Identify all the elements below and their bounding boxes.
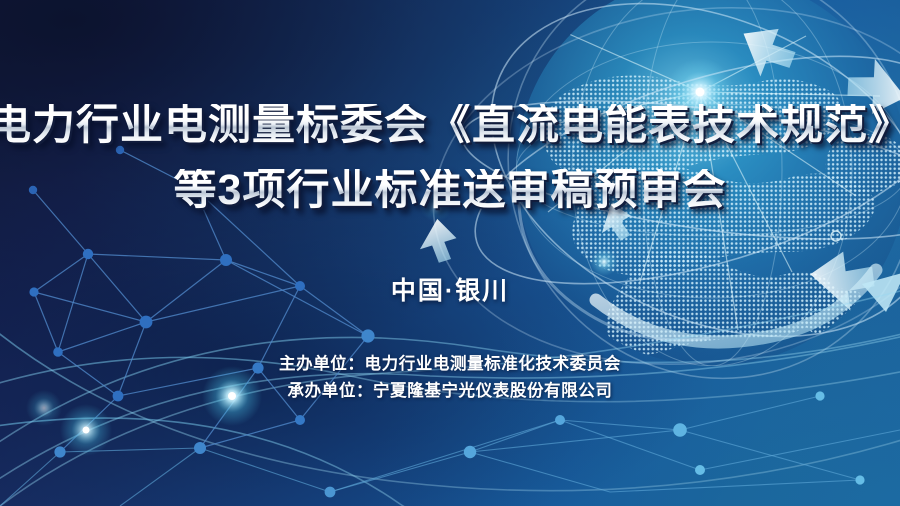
poster-organizer-block: 主办单位：电力行业电测量标准化技术委员会 承办单位：宁夏隆基宁光仪表股份有限公司 [279, 351, 621, 404]
poster-location-subtitle: 中国·银川 [391, 271, 509, 307]
poster-title-line-2: 等3项行业标准送审稿预审会 [174, 169, 727, 212]
organizer-line: 主办单位：电力行业电测量标准化技术委员会 [279, 351, 621, 378]
poster-title-line-1: 电力行业电测量标委会《直流电能表技术规范》 [0, 104, 900, 147]
conference-poster: 电力行业电测量标委会《直流电能表技术规范》 等3项行业标准送审稿预审会 中国·银… [0, 0, 900, 506]
poster-content: 电力行业电测量标委会《直流电能表技术规范》 等3项行业标准送审稿预审会 中国·银… [0, 0, 900, 506]
co-organizer-line: 承办单位：宁夏隆基宁光仪表股份有限公司 [279, 378, 621, 405]
